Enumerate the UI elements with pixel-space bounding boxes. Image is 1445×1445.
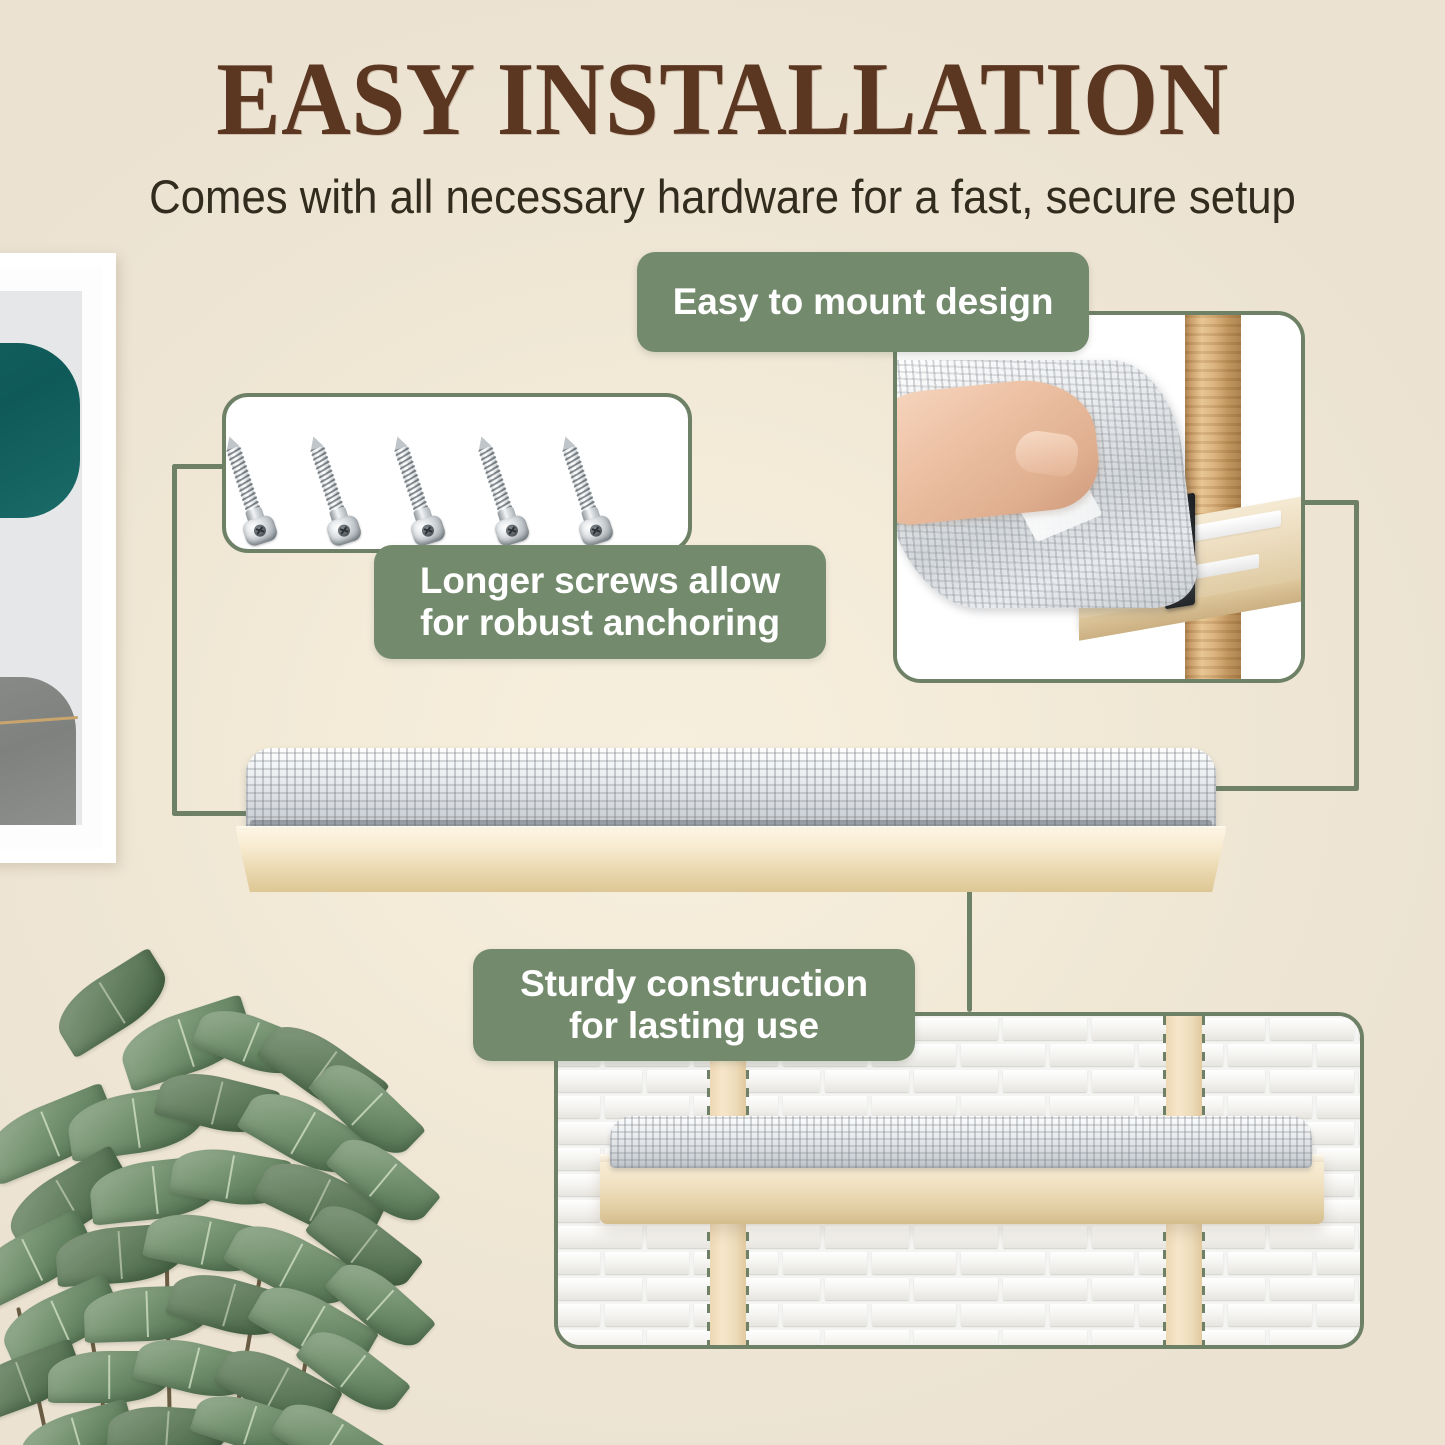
- brick: [1359, 1174, 1364, 1196]
- page-subtitle: Comes with all necessary hardware for a …: [51, 173, 1395, 220]
- callout-easy-to-mount[interactable]: Easy to mount design: [637, 252, 1089, 352]
- brick: [1270, 1070, 1354, 1092]
- brick: [1270, 1278, 1354, 1300]
- brick: [1003, 1278, 1087, 1300]
- brick: [1317, 1304, 1364, 1326]
- brick: [1359, 1070, 1364, 1092]
- callout-longer-screws[interactable]: Longer screws allow for robust anchoring: [374, 545, 826, 659]
- brick: [1003, 1070, 1087, 1092]
- wall-mounted-shelf-photo: [554, 1012, 1364, 1349]
- brick: [1359, 1278, 1364, 1300]
- brick: [783, 1252, 867, 1274]
- brick: [872, 1096, 956, 1118]
- brick: [1003, 1226, 1087, 1248]
- brick: [961, 1304, 1045, 1326]
- brick: [554, 1304, 600, 1326]
- brick: [914, 1018, 998, 1040]
- brick: [554, 1200, 600, 1222]
- brick: [1317, 1252, 1364, 1274]
- brick: [914, 1278, 998, 1300]
- brick: [1228, 1252, 1312, 1274]
- brick: [1050, 1304, 1134, 1326]
- brick: [961, 1044, 1045, 1066]
- screw-drive-icon: [588, 523, 603, 538]
- floating-shelf-with-cushion: [236, 742, 1226, 897]
- screw-4: [461, 414, 532, 548]
- callout-sturdy-construction[interactable]: Sturdy construction for lasting use: [473, 949, 915, 1061]
- screw-2: [293, 414, 364, 548]
- connector-right-vertical-segment: [1354, 500, 1359, 790]
- brick: [605, 1096, 689, 1118]
- brick: [783, 1096, 867, 1118]
- screw-drive-icon: [252, 523, 267, 538]
- brick: [554, 1252, 600, 1274]
- brick: [825, 1278, 909, 1300]
- brick: [1359, 1122, 1364, 1144]
- art-canvas: [0, 291, 82, 825]
- brick: [605, 1304, 689, 1326]
- brick: [554, 1096, 600, 1118]
- art-gray-shape: [0, 677, 76, 825]
- brick: [554, 1148, 600, 1170]
- brick: [783, 1304, 867, 1326]
- screw-5: [545, 414, 616, 548]
- brick: [825, 1070, 909, 1092]
- framed-wall-art: [0, 253, 116, 863]
- rubber-plant: [0, 965, 430, 1445]
- brick-photo-cushion-mat: [610, 1116, 1312, 1168]
- brick: [1228, 1096, 1312, 1118]
- art-teal-shape: [0, 343, 80, 518]
- brick: [1270, 1226, 1354, 1248]
- screw-3: [377, 414, 448, 548]
- brick: [825, 1226, 909, 1248]
- page-title: EASY INSTALLATION: [58, 46, 1387, 151]
- brick: [1050, 1096, 1134, 1118]
- brick: [1317, 1096, 1364, 1118]
- brick: [1050, 1044, 1134, 1066]
- brick: [1050, 1252, 1134, 1274]
- brick: [1270, 1018, 1354, 1040]
- brick: [1228, 1044, 1312, 1066]
- header: EASY INSTALLATION Comes with all necessa…: [0, 0, 1445, 220]
- screw-1: [222, 414, 279, 548]
- brick-row: [558, 1276, 1360, 1302]
- brick-row: [558, 1302, 1360, 1328]
- brick: [1003, 1018, 1087, 1040]
- brick: [1317, 1148, 1364, 1170]
- brick: [825, 1330, 909, 1349]
- connector-left-vertical-segment: [172, 464, 177, 816]
- infographic-canvas: EASY INSTALLATION Comes with all necessa…: [0, 0, 1445, 1445]
- mounting-demo-photo: [893, 311, 1305, 683]
- brick: [1359, 1018, 1364, 1040]
- brick: [558, 1070, 642, 1092]
- brick: [1270, 1330, 1354, 1349]
- brick-row: [558, 1250, 1360, 1276]
- brick: [1317, 1200, 1364, 1222]
- brick: [1228, 1304, 1312, 1326]
- shelf-board: [236, 830, 1226, 892]
- brick: [961, 1096, 1045, 1118]
- screw-drive-icon: [336, 523, 351, 538]
- connector-right-top-segment: [1300, 500, 1359, 505]
- art-mat: [0, 267, 102, 849]
- brick: [1359, 1330, 1364, 1349]
- thumb: [1013, 428, 1080, 478]
- brick: [1003, 1330, 1087, 1349]
- brick-row: [558, 1328, 1360, 1349]
- brick: [914, 1070, 998, 1092]
- brick: [558, 1330, 642, 1349]
- brick: [605, 1252, 689, 1274]
- brick: [872, 1252, 956, 1274]
- brick-row: [558, 1068, 1360, 1094]
- screw-drive-icon: [420, 523, 435, 538]
- brick-row: [558, 1224, 1360, 1250]
- brick: [914, 1226, 998, 1248]
- screw-drive-icon: [504, 523, 519, 538]
- brick: [1317, 1044, 1364, 1066]
- brick: [558, 1226, 642, 1248]
- brick: [558, 1278, 642, 1300]
- screws-hardware-photo: [222, 393, 692, 553]
- brick: [914, 1330, 998, 1349]
- brick: [1359, 1226, 1364, 1248]
- brick: [961, 1252, 1045, 1274]
- brick: [872, 1304, 956, 1326]
